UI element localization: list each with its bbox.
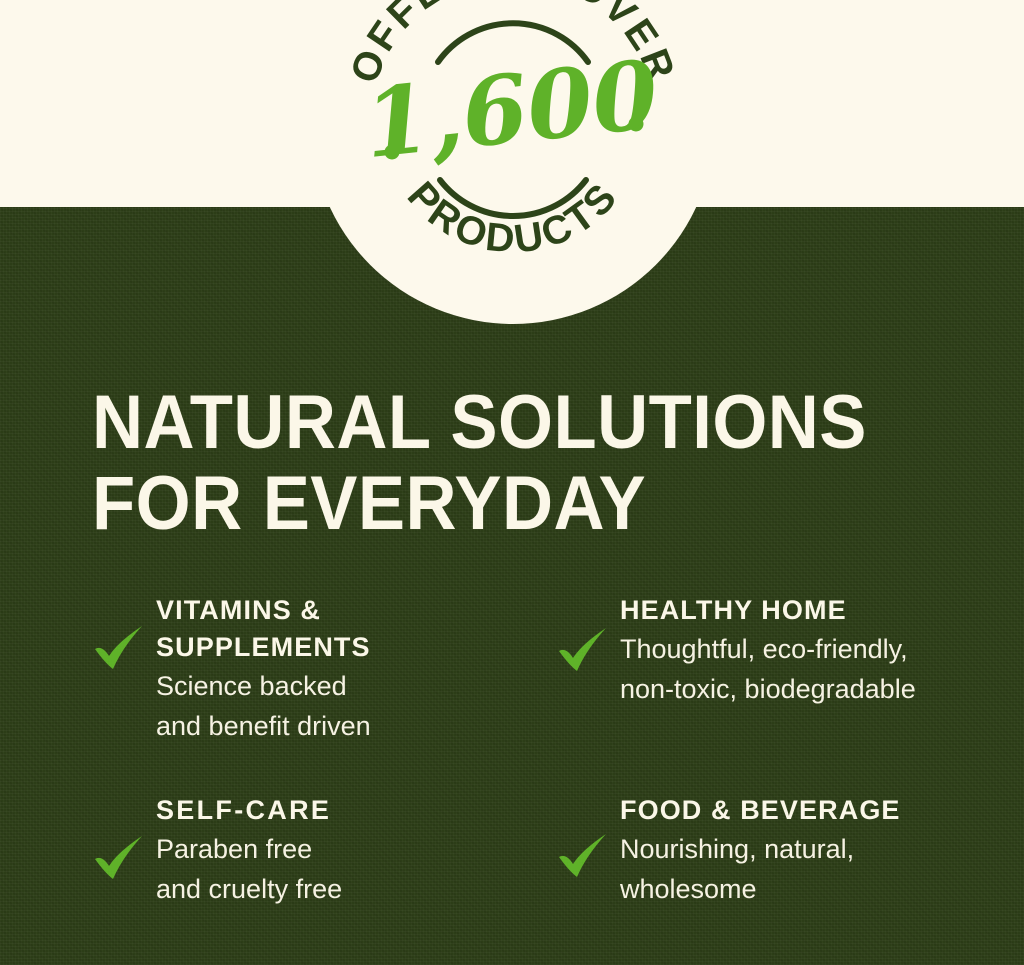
promo-banner: OFFERING OVER PRODUCTS 1,600 NATURAL SOL… xyxy=(0,0,1024,965)
product-count-badge: OFFERING OVER PRODUCTS 1,600 xyxy=(333,0,693,302)
feature-desc-line-1: Paraben free xyxy=(156,829,540,869)
headline-line-2: FOR EVERYDAY xyxy=(92,463,910,544)
feature-title: VITAMINS & xyxy=(156,592,540,629)
feature-title: SELF-CARE xyxy=(156,792,540,829)
feature-desc-line-1: Thoughtful, eco-friendly, xyxy=(620,629,988,669)
feature-desc-line-2: wholesome xyxy=(620,869,988,909)
feature-desc-line-2: and benefit driven xyxy=(156,706,540,746)
headline-line-1: NATURAL SOLUTIONS xyxy=(92,382,910,463)
check-icon xyxy=(92,830,148,882)
feature-title-line-2: SUPPLEMENTS xyxy=(156,629,540,666)
feature-item-food-beverage: FOOD & BEVERAGE Nourishing, natural, who… xyxy=(540,792,988,909)
feature-item-vitamins-supplements: VITAMINS & SUPPLEMENTS Science backed an… xyxy=(88,592,540,792)
feature-desc-line-1: Nourishing, natural, xyxy=(620,829,988,869)
feature-desc-line-2: non-toxic, biodegradable xyxy=(620,669,988,709)
feature-title: FOOD & BEVERAGE xyxy=(620,792,988,829)
check-icon xyxy=(556,622,612,674)
feature-description: Paraben free and cruelty free xyxy=(156,829,540,909)
feature-description: Thoughtful, eco-friendly, non-toxic, bio… xyxy=(620,629,988,709)
feature-description: Nourishing, natural, wholesome xyxy=(620,829,988,909)
feature-description: Science backed and benefit driven xyxy=(156,666,540,746)
badge-product-count: 1,600 xyxy=(359,40,663,180)
feature-title: HEALTHY HOME xyxy=(620,592,988,629)
feature-grid: VITAMINS & SUPPLEMENTS Science backed an… xyxy=(88,592,988,909)
check-icon xyxy=(556,828,612,880)
feature-desc-line-1: Science backed xyxy=(156,666,540,706)
headline: NATURAL SOLUTIONS FOR EVERYDAY xyxy=(92,382,910,544)
feature-item-self-care: SELF-CARE Paraben free and cruelty free xyxy=(88,792,540,909)
check-icon xyxy=(92,620,148,672)
feature-item-healthy-home: HEALTHY HOME Thoughtful, eco-friendly, n… xyxy=(540,592,988,792)
feature-desc-line-2: and cruelty free xyxy=(156,869,540,909)
